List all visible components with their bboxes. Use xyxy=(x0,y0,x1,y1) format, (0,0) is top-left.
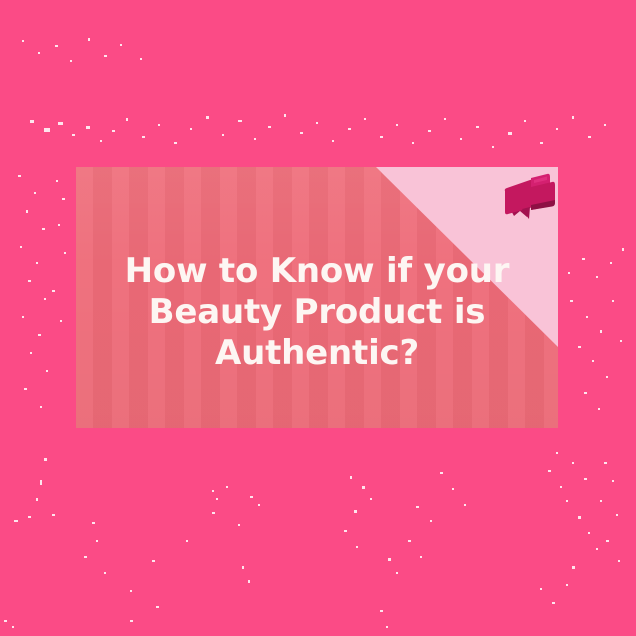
card-headline: How to Know if your Beauty Product is Au… xyxy=(76,251,558,374)
headline-line-2: Beauty Product is xyxy=(84,292,550,333)
card-surface: How to Know if your Beauty Product is Au… xyxy=(76,167,558,428)
headline-line-3: Authentic? xyxy=(84,333,550,374)
ribbon-banner-icon xyxy=(500,172,558,230)
headline-line-1: How to Know if your xyxy=(84,251,550,292)
article-card[interactable]: How to Know if your Beauty Product is Au… xyxy=(76,167,558,428)
